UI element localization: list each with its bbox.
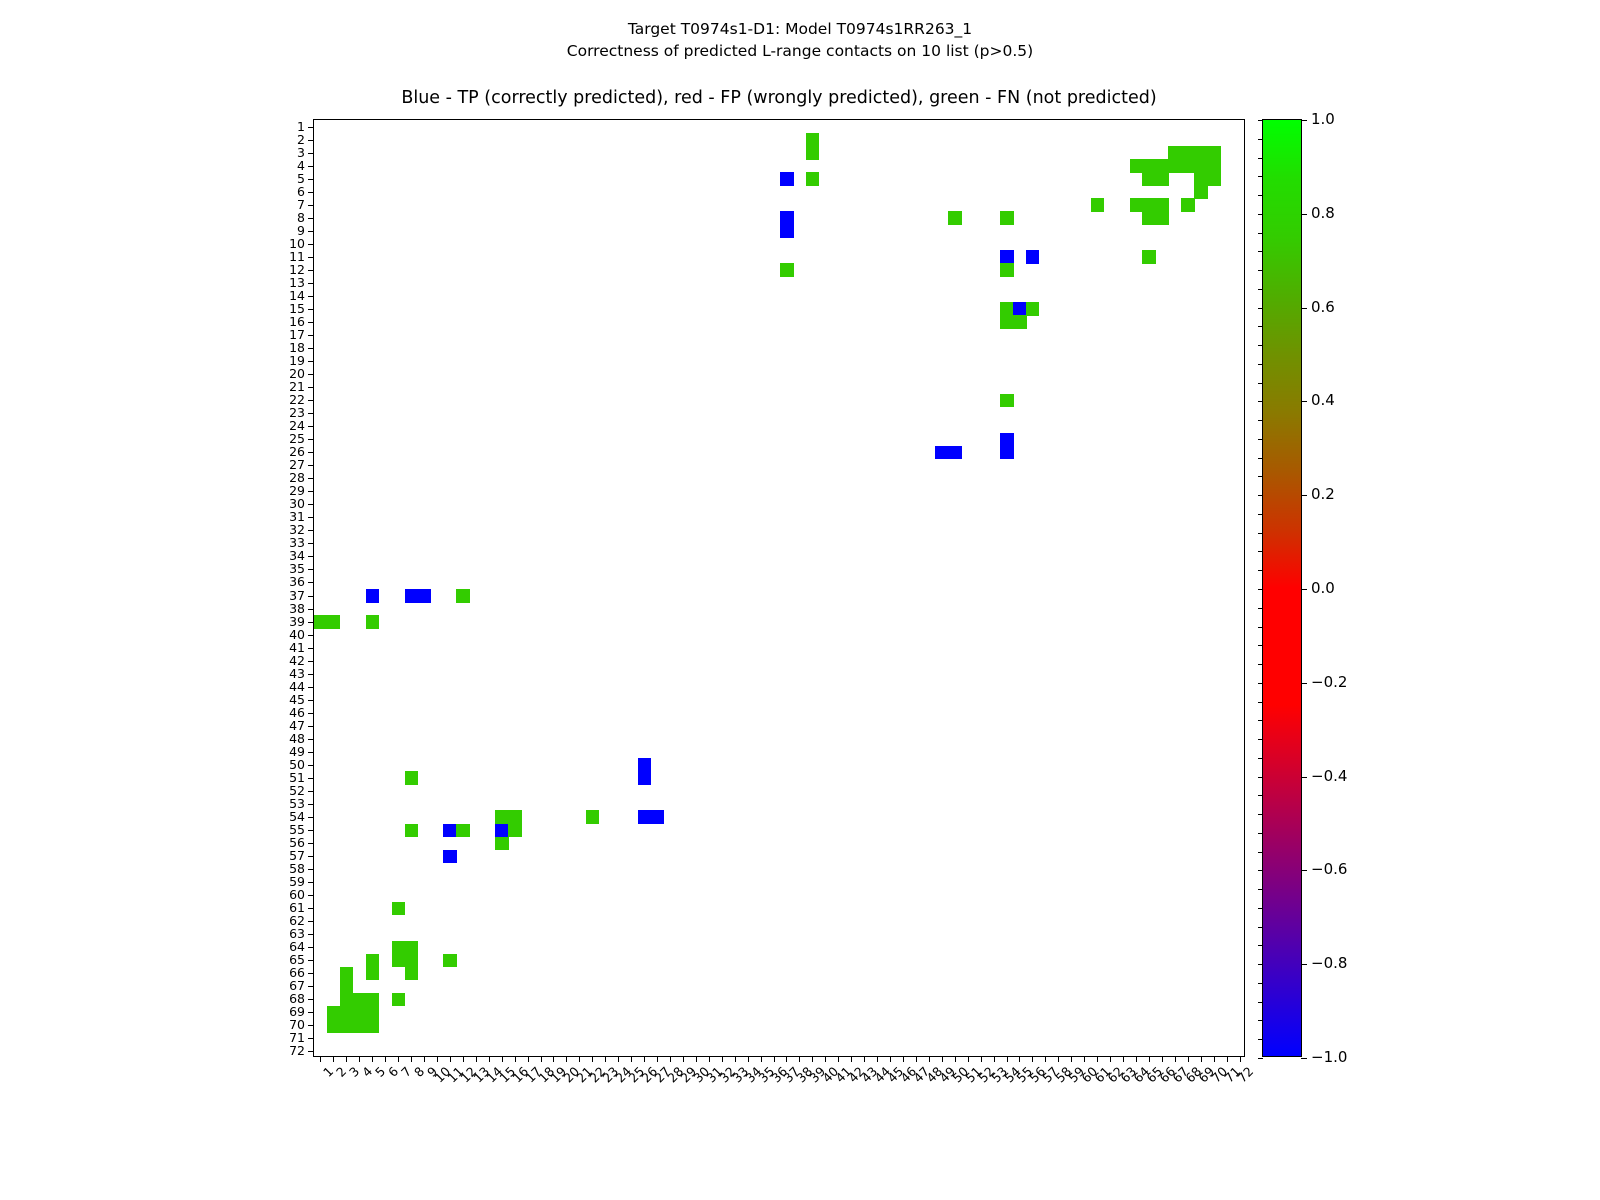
y-axis-tick (308, 986, 314, 987)
heatmap-cell (638, 771, 652, 785)
axes-legend-title: Blue - TP (correctly predicted), red - F… (313, 88, 1245, 108)
heatmap-cell (1207, 146, 1221, 160)
heatmap-cell (508, 824, 522, 838)
x-axis-tick (1097, 1056, 1098, 1062)
colorbar-tick-label: −0.8 (1311, 956, 1347, 970)
x-axis-tick (372, 1056, 373, 1062)
y-axis-tick (308, 127, 314, 128)
y-axis-tick (308, 387, 314, 388)
y-axis-tick (308, 869, 314, 870)
colorbar-minor-tick (1258, 927, 1263, 928)
y-axis-tick-label: 3 (297, 147, 305, 159)
heatmap-cell (392, 902, 406, 916)
x-axis-tick (1149, 1056, 1150, 1062)
heatmap-cell (1194, 185, 1208, 199)
x-axis-tick (774, 1056, 775, 1062)
colorbar-tick-label: 0.2 (1311, 487, 1335, 501)
y-axis-tick (308, 596, 314, 597)
y-axis-tick (308, 309, 314, 310)
colorbar-minor-tick (1258, 589, 1263, 590)
heatmap-cell (1000, 263, 1014, 277)
colorbar-minor-tick (1258, 777, 1263, 778)
heatmap-cell (1000, 250, 1014, 264)
heatmap-cell (366, 1019, 380, 1033)
heatmap-cell (340, 980, 354, 994)
x-axis-tick (346, 1056, 347, 1062)
y-axis-tick (308, 778, 314, 779)
colorbar-tick (1301, 777, 1307, 778)
y-axis-tick (308, 934, 314, 935)
colorbar-minor-tick (1258, 233, 1263, 234)
heatmap-cell (806, 133, 820, 147)
heatmap-cell (392, 993, 406, 1007)
colorbar-minor-tick (1258, 195, 1263, 196)
x-axis-tick (1084, 1056, 1085, 1062)
y-axis-tick (308, 1025, 314, 1026)
colorbar-tick-label: −0.4 (1311, 769, 1347, 783)
x-axis-tick (592, 1056, 593, 1062)
heatmap-cell (806, 146, 820, 160)
x-axis-tick (489, 1056, 490, 1062)
y-axis-tick-label: 10 (289, 238, 305, 250)
heatmap-cell (1000, 302, 1014, 316)
y-axis-tick (308, 895, 314, 896)
heatmap-cell (948, 446, 962, 460)
heatmap-cell (353, 1006, 367, 1020)
colorbar-minor-tick (1258, 551, 1263, 552)
heatmap-cell (366, 993, 380, 1007)
heatmap-cell (392, 941, 406, 955)
y-axis-tick-label: 5 (297, 173, 305, 185)
colorbar-minor-tick (1258, 852, 1263, 853)
heatmap-cell (495, 810, 509, 824)
colorbar-minor-tick (1258, 251, 1263, 252)
heatmap-cell (1194, 159, 1208, 173)
x-axis-tick (631, 1056, 632, 1062)
colorbar-minor-tick (1258, 645, 1263, 646)
colorbar-minor-tick (1258, 664, 1263, 665)
x-axis-tick (1227, 1056, 1228, 1062)
x-axis-tick (385, 1056, 386, 1062)
heatmap-cell (366, 1006, 380, 1020)
x-axis-tick (1007, 1056, 1008, 1062)
y-axis-tick (308, 960, 314, 961)
y-axis-tick-label: 36 (289, 576, 305, 588)
x-axis-tick (424, 1056, 425, 1062)
colorbar-minor-tick (1258, 176, 1263, 177)
heatmap-cell (340, 967, 354, 981)
x-axis-tick (890, 1056, 891, 1062)
x-axis-tick (916, 1056, 917, 1062)
heatmap-cell (366, 589, 380, 603)
heatmap-cell (1013, 315, 1027, 329)
x-axis-tick (786, 1056, 787, 1062)
y-axis-tick (308, 635, 314, 636)
heatmap-cell (1000, 446, 1014, 460)
heatmap-cell (443, 850, 457, 864)
x-axis-tick (320, 1056, 321, 1062)
colorbar-minor-tick (1258, 983, 1263, 984)
y-axis-tick-label: 48 (289, 733, 305, 745)
y-axis-tick (308, 179, 314, 180)
colorbar-tick (1301, 308, 1307, 309)
heatmap-cell (780, 172, 794, 186)
y-axis-tick-label: 8 (297, 212, 305, 224)
y-axis-tick (308, 374, 314, 375)
x-axis-tick (825, 1056, 826, 1062)
x-axis-tick (618, 1056, 619, 1062)
y-axis-tick (308, 973, 314, 974)
x-axis-tick (877, 1056, 878, 1062)
heatmap-cell (1168, 146, 1182, 160)
x-axis-tick (1045, 1056, 1046, 1062)
y-axis-tick (308, 999, 314, 1000)
colorbar-minor-tick (1258, 758, 1263, 759)
colorbar-minor-tick (1258, 533, 1263, 534)
y-axis-tick (308, 348, 314, 349)
colorbar-tick-label: 1.0 (1311, 112, 1335, 126)
colorbar-minor-tick (1258, 570, 1263, 571)
y-axis-tick-label: 40 (289, 629, 305, 641)
y-axis-tick-label: 44 (289, 681, 305, 693)
y-axis-tick (308, 296, 314, 297)
colorbar-minor-tick (1258, 964, 1263, 965)
heatmap-cell (1181, 198, 1195, 212)
heatmap-cell (456, 589, 470, 603)
colorbar-minor-tick (1258, 795, 1263, 796)
colorbar-tick (1301, 1058, 1307, 1059)
heatmap-cell (443, 954, 457, 968)
x-axis-tick (1071, 1056, 1072, 1062)
y-axis-tick (308, 726, 314, 727)
y-axis-tick (308, 231, 314, 232)
y-axis-tick-label: 47 (289, 720, 305, 732)
colorbar-tick-label: 0.8 (1311, 206, 1335, 220)
x-axis-tick (657, 1056, 658, 1062)
y-axis-tick-label: 9 (297, 225, 305, 237)
colorbar-minor-tick (1258, 326, 1263, 327)
x-axis-tick (903, 1056, 904, 1062)
heatmap-cell (1026, 302, 1040, 316)
y-axis-tick (308, 882, 314, 883)
heatmap-cell (780, 263, 794, 277)
colorbar-tick-label: 0.0 (1311, 581, 1335, 595)
x-axis-tick (1240, 1056, 1241, 1062)
y-axis-tick-label: 41 (289, 642, 305, 654)
heatmap-cell (340, 1019, 354, 1033)
x-axis-tick (929, 1056, 930, 1062)
heatmap-cell (1000, 211, 1014, 225)
x-axis-tick (670, 1056, 671, 1062)
colorbar-minor-tick (1258, 439, 1263, 440)
x-axis-tick (644, 1056, 645, 1062)
heatmap-cell (366, 954, 380, 968)
heatmap-cell (1142, 172, 1156, 186)
heatmap-cell (1194, 172, 1208, 186)
y-axis-tick (308, 465, 314, 466)
y-axis-tick (308, 739, 314, 740)
x-axis-tick (359, 1056, 360, 1062)
heatmap-cell (366, 967, 380, 981)
heatmap-cell (780, 224, 794, 238)
y-axis-tick (308, 661, 314, 662)
y-axis-tick (308, 804, 314, 805)
y-axis-tick-label: 12 (289, 264, 305, 276)
heatmap-cell (443, 824, 457, 838)
y-axis-tick-label: 43 (289, 668, 305, 680)
y-axis-tick (308, 543, 314, 544)
y-axis-tick (308, 648, 314, 649)
colorbar-tick-label: −0.2 (1311, 675, 1347, 689)
y-axis-tick (308, 413, 314, 414)
heatmap-cell (327, 1006, 341, 1020)
heatmap-cell (806, 172, 820, 186)
y-axis-tick (308, 582, 314, 583)
y-axis-tick (308, 752, 314, 753)
y-axis-tick (308, 921, 314, 922)
y-axis-tick (308, 153, 314, 154)
heatmap-cell (1155, 198, 1169, 212)
x-axis-tick (968, 1056, 969, 1062)
x-axis-tick (955, 1056, 956, 1062)
y-axis-tick (308, 556, 314, 557)
heatmap-cell (405, 941, 419, 955)
y-axis-tick (308, 140, 314, 141)
colorbar-tick-label: 0.4 (1311, 393, 1335, 407)
colorbar-tick-label: −0.6 (1311, 862, 1347, 876)
colorbar-minor-tick (1258, 214, 1263, 215)
heatmap-cell (508, 810, 522, 824)
y-axis-tick (308, 517, 314, 518)
heatmap-cell (586, 810, 600, 824)
x-axis-tick (812, 1056, 813, 1062)
y-axis-tick (308, 713, 314, 714)
x-axis-tick (605, 1056, 606, 1062)
y-axis-tick (308, 1012, 314, 1013)
heatmap-cell (651, 810, 665, 824)
heatmap-cell (1026, 250, 1040, 264)
colorbar-tick (1301, 683, 1307, 684)
heatmap-cell (1142, 198, 1156, 212)
x-axis-tick (851, 1056, 852, 1062)
heatmap-cell (1155, 211, 1169, 225)
heatmap-cell (353, 993, 367, 1007)
y-axis-tick (308, 283, 314, 284)
contact-map-figure: Target T0974s1-D1: Model T0974s1RR263_1 … (0, 0, 1600, 1200)
heatmap-cell (1168, 159, 1182, 173)
x-axis-tick (1136, 1056, 1137, 1062)
y-axis-tick (308, 674, 314, 675)
colorbar-minor-tick (1258, 383, 1263, 384)
y-axis-tick (308, 439, 314, 440)
heatmap-cells (314, 120, 1244, 1056)
heatmap-cell (405, 589, 419, 603)
y-axis-tick (308, 205, 314, 206)
heatmap-cell (366, 615, 380, 629)
x-axis-tick (722, 1056, 723, 1062)
heatmap-cell (1142, 159, 1156, 173)
heatmap-cell (1130, 159, 1144, 173)
y-axis-tick (308, 166, 314, 167)
y-axis-tick (308, 817, 314, 818)
x-axis-tick (838, 1056, 839, 1062)
colorbar-minor-tick (1258, 814, 1263, 815)
colorbar-tick (1301, 589, 1307, 590)
x-axis-tick (579, 1056, 580, 1062)
heatmap-cell (638, 810, 652, 824)
x-axis-tick (864, 1056, 865, 1062)
colorbar-minor-tick (1258, 514, 1263, 515)
colorbar-minor-tick (1258, 289, 1263, 290)
y-axis-tick (308, 687, 314, 688)
heatmap-cell (1000, 315, 1014, 329)
y-axis-tick (308, 765, 314, 766)
colorbar-minor-tick (1258, 364, 1263, 365)
colorbar-minor-tick (1258, 139, 1263, 140)
y-axis-tick-label: 37 (289, 590, 305, 602)
y-axis-tick (308, 257, 314, 258)
heatmap-cell (495, 824, 509, 838)
heatmap-cell (1194, 146, 1208, 160)
y-axis-tick (308, 400, 314, 401)
y-axis-tick (308, 856, 314, 857)
heatmap-cell (1181, 159, 1195, 173)
x-axis-tick (566, 1056, 567, 1062)
colorbar-minor-tick (1258, 889, 1263, 890)
y-axis-tick-label: 2 (297, 134, 305, 146)
heatmap-cell (1155, 159, 1169, 173)
figure-title: Target T0974s1-D1: Model T0974s1RR263_1 … (0, 18, 1600, 62)
x-axis-tick (450, 1056, 451, 1062)
colorbar-tick (1301, 495, 1307, 496)
x-axis-tick (333, 1056, 334, 1062)
y-axis-tick-label: 46 (289, 707, 305, 719)
x-axis-tick (528, 1056, 529, 1062)
heatmap-cell (1000, 394, 1014, 408)
y-axis-tick-label: 42 (289, 655, 305, 667)
y-axis-tick (308, 244, 314, 245)
y-axis-tick (308, 335, 314, 336)
y-axis-tick (308, 700, 314, 701)
heatmap-cell (456, 824, 470, 838)
colorbar-tick (1301, 120, 1307, 121)
figure-title-line-1: Target T0974s1-D1: Model T0974s1RR263_1 (0, 18, 1600, 40)
heatmap-cell (1142, 250, 1156, 264)
colorbar-minor-tick (1258, 1020, 1263, 1021)
colorbar-minor-tick (1258, 1039, 1263, 1040)
x-axis-tick (683, 1056, 684, 1062)
x-axis-tick (1214, 1056, 1215, 1062)
colorbar: 1.00.80.60.40.20.0−0.2−0.4−0.6−0.8−1.0 (1262, 119, 1302, 1057)
x-axis-tick (515, 1056, 516, 1062)
x-axis-tick (1123, 1056, 1124, 1062)
x-axis-tick (1175, 1056, 1176, 1062)
y-axis-tick (308, 491, 314, 492)
heatmap-cell (392, 954, 406, 968)
colorbar-tick (1301, 870, 1307, 871)
colorbar-minor-tick (1258, 120, 1263, 121)
y-axis-tick-label: 45 (289, 694, 305, 706)
heatmap-cell (340, 1006, 354, 1020)
x-axis-tick (1058, 1056, 1059, 1062)
y-axis-tick (308, 478, 314, 479)
y-axis-tick (308, 569, 314, 570)
x-axis-tick (942, 1056, 943, 1062)
colorbar-minor-tick (1258, 945, 1263, 946)
x-axis-tick (1201, 1056, 1202, 1062)
heatmap-cell (314, 615, 328, 629)
x-axis-tick (981, 1056, 982, 1062)
colorbar-tick (1301, 964, 1307, 965)
y-axis-tick (308, 622, 314, 623)
heatmap-cell (495, 837, 509, 851)
y-axis-tick-label: 38 (289, 603, 305, 615)
heatmap-cell (948, 211, 962, 225)
x-axis-tick (411, 1056, 412, 1062)
heatmap-cell (1000, 433, 1014, 447)
y-axis-tick (308, 504, 314, 505)
heatmap-cell (638, 758, 652, 772)
x-axis-tick (1032, 1056, 1033, 1062)
heatmap-cell (1207, 159, 1221, 173)
x-axis-tick (709, 1056, 710, 1062)
colorbar-minor-tick (1258, 908, 1263, 909)
colorbar-minor-tick (1258, 720, 1263, 721)
x-axis-tick (437, 1056, 438, 1062)
x-axis-tick (735, 1056, 736, 1062)
y-axis-tick-label: 1 (297, 121, 305, 133)
heatmap-plot-area[interactable]: 1234567891011121314151617181920212223242… (313, 119, 1245, 1057)
x-axis-tick (748, 1056, 749, 1062)
x-axis-tick (502, 1056, 503, 1062)
y-axis-tick-label: 72 (289, 1045, 305, 1057)
x-axis-tick (1162, 1056, 1163, 1062)
x-axis-tick (476, 1056, 477, 1062)
x-axis-tick (398, 1056, 399, 1062)
y-axis-tick-label: 11 (289, 251, 305, 263)
y-axis-tick (308, 192, 314, 193)
x-axis-tick (1019, 1056, 1020, 1062)
heatmap-cell (418, 589, 432, 603)
x-axis-tick (761, 1056, 762, 1062)
colorbar-tick (1301, 214, 1307, 215)
x-axis-tick (696, 1056, 697, 1062)
y-axis-tick (308, 1038, 314, 1039)
heatmap-cell (1130, 198, 1144, 212)
heatmap-cell (405, 824, 419, 838)
x-axis-tick (1188, 1056, 1189, 1062)
y-axis-tick (308, 426, 314, 427)
heatmap-cell (1207, 172, 1221, 186)
colorbar-minor-tick (1258, 495, 1263, 496)
y-axis-tick (308, 218, 314, 219)
heatmap-cell (405, 771, 419, 785)
y-axis-tick (308, 908, 314, 909)
colorbar-minor-tick (1258, 270, 1263, 271)
heatmap-cell (1091, 198, 1105, 212)
y-axis-tick (308, 830, 314, 831)
heatmap-cell (1142, 211, 1156, 225)
colorbar-minor-tick (1258, 608, 1263, 609)
x-axis-tick (994, 1056, 995, 1062)
heatmap-cell (405, 967, 419, 981)
colorbar-minor-tick (1258, 308, 1263, 309)
heatmap-cell (327, 615, 341, 629)
heatmap-cell (1181, 146, 1195, 160)
colorbar-tick-label: −1.0 (1311, 1050, 1347, 1064)
x-axis-tick (799, 1056, 800, 1062)
y-axis-tick (308, 791, 314, 792)
